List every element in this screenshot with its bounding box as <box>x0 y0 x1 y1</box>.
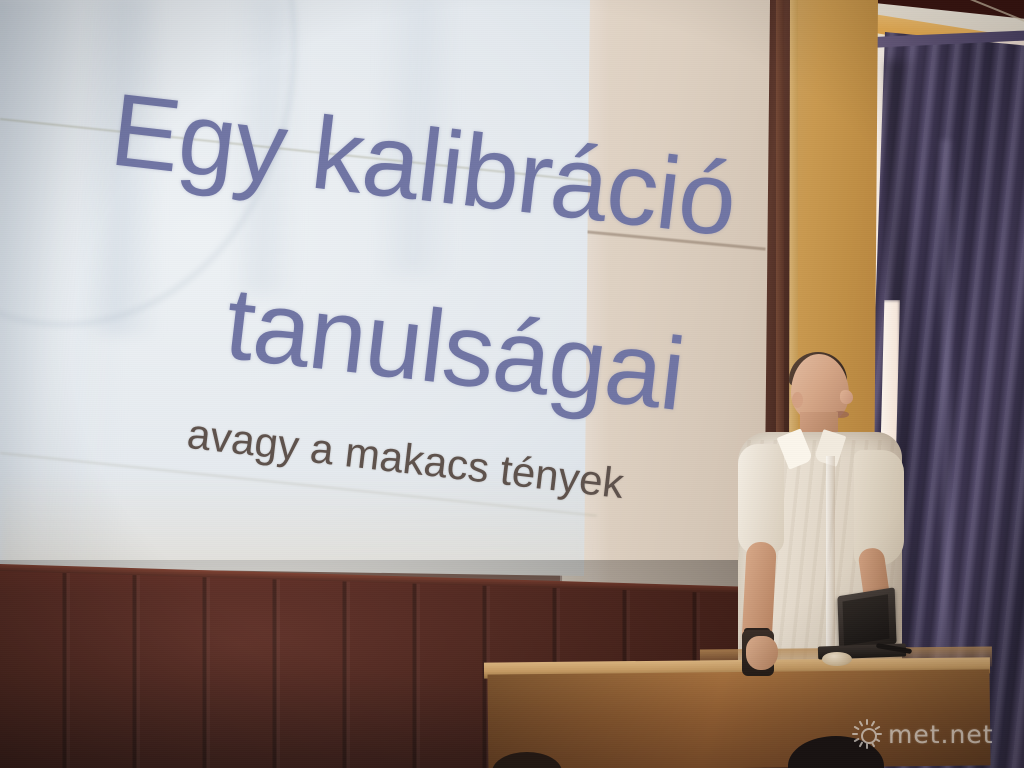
presenter-shirt-placket <box>826 456 835 666</box>
watermark-text: met.net <box>888 720 994 749</box>
presenter-left-hand <box>746 636 778 670</box>
watermark: met.net <box>852 714 1012 754</box>
slide-subtitle: avagy a makacs tények <box>185 410 626 508</box>
presenter-left-sleeve <box>738 444 784 554</box>
slide-content: Egy kalibráció tanulságai avagy a makacs… <box>0 0 612 573</box>
presentation-photo: Egy kalibráció tanulságai avagy a makacs… <box>0 0 1024 768</box>
presenter-right-sleeve <box>854 450 904 566</box>
cup-on-lectern <box>822 652 852 666</box>
sun-icon <box>852 719 882 749</box>
presenter-nose <box>840 390 853 404</box>
laptop-display-panel <box>843 594 890 645</box>
presenter-ear <box>792 392 803 408</box>
